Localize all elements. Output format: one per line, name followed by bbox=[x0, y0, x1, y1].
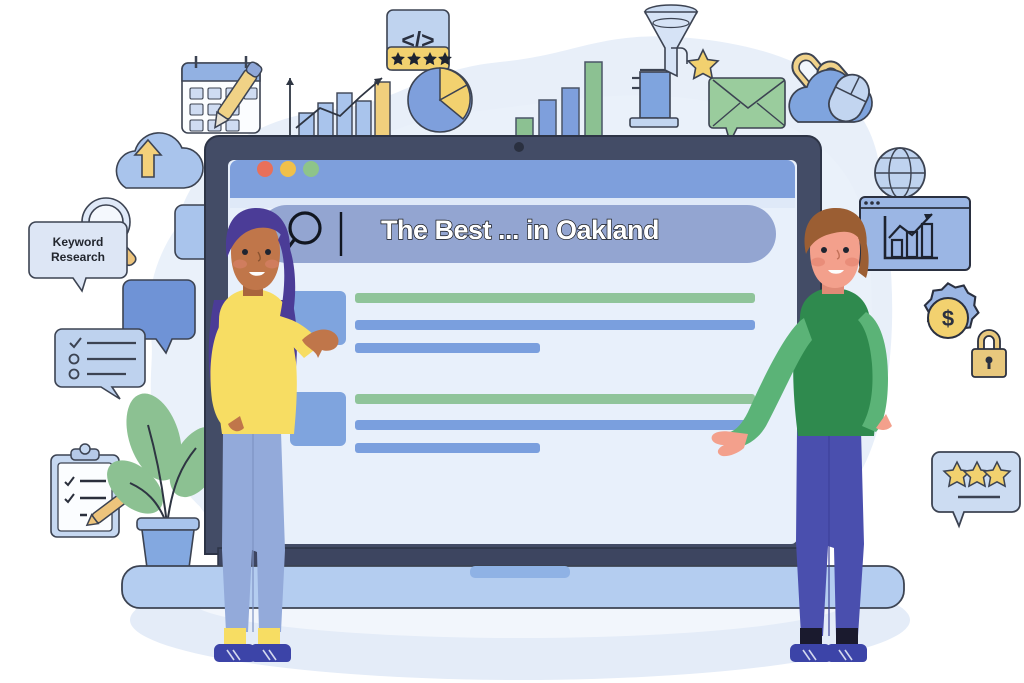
code-rating-icon: </> bbox=[387, 10, 452, 70]
result-title-bar bbox=[355, 293, 755, 303]
svg-text:$: $ bbox=[942, 306, 954, 331]
padlock-icon bbox=[972, 330, 1006, 377]
result-title-bar bbox=[355, 394, 755, 404]
content-calendar-icon bbox=[182, 56, 263, 133]
result-line bbox=[355, 343, 540, 353]
keyword-research-bubble bbox=[29, 222, 127, 291]
illustration-canvas: </> bbox=[0, 0, 1024, 683]
webcam-dot bbox=[514, 142, 524, 152]
cloud-upload-icon bbox=[116, 133, 203, 188]
pie-chart-icon bbox=[408, 68, 472, 132]
illustration-svg: </> bbox=[0, 0, 1024, 683]
search-bar bbox=[258, 205, 776, 263]
result-line bbox=[355, 443, 540, 453]
result-thumbnail bbox=[290, 392, 346, 446]
analytics-window-icon bbox=[860, 197, 970, 270]
review-stars-icon bbox=[932, 452, 1020, 526]
result-line bbox=[355, 420, 755, 430]
globe-icon bbox=[875, 148, 925, 198]
gear-dollar-icon: $ bbox=[925, 283, 979, 338]
traffic-light-minimize bbox=[280, 161, 296, 177]
result-line bbox=[355, 320, 755, 330]
traffic-light-close bbox=[257, 161, 273, 177]
checklist-bubble-icon bbox=[55, 329, 145, 399]
bar-chart-growth-icon bbox=[286, 78, 390, 136]
traffic-light-maximize bbox=[303, 161, 319, 177]
